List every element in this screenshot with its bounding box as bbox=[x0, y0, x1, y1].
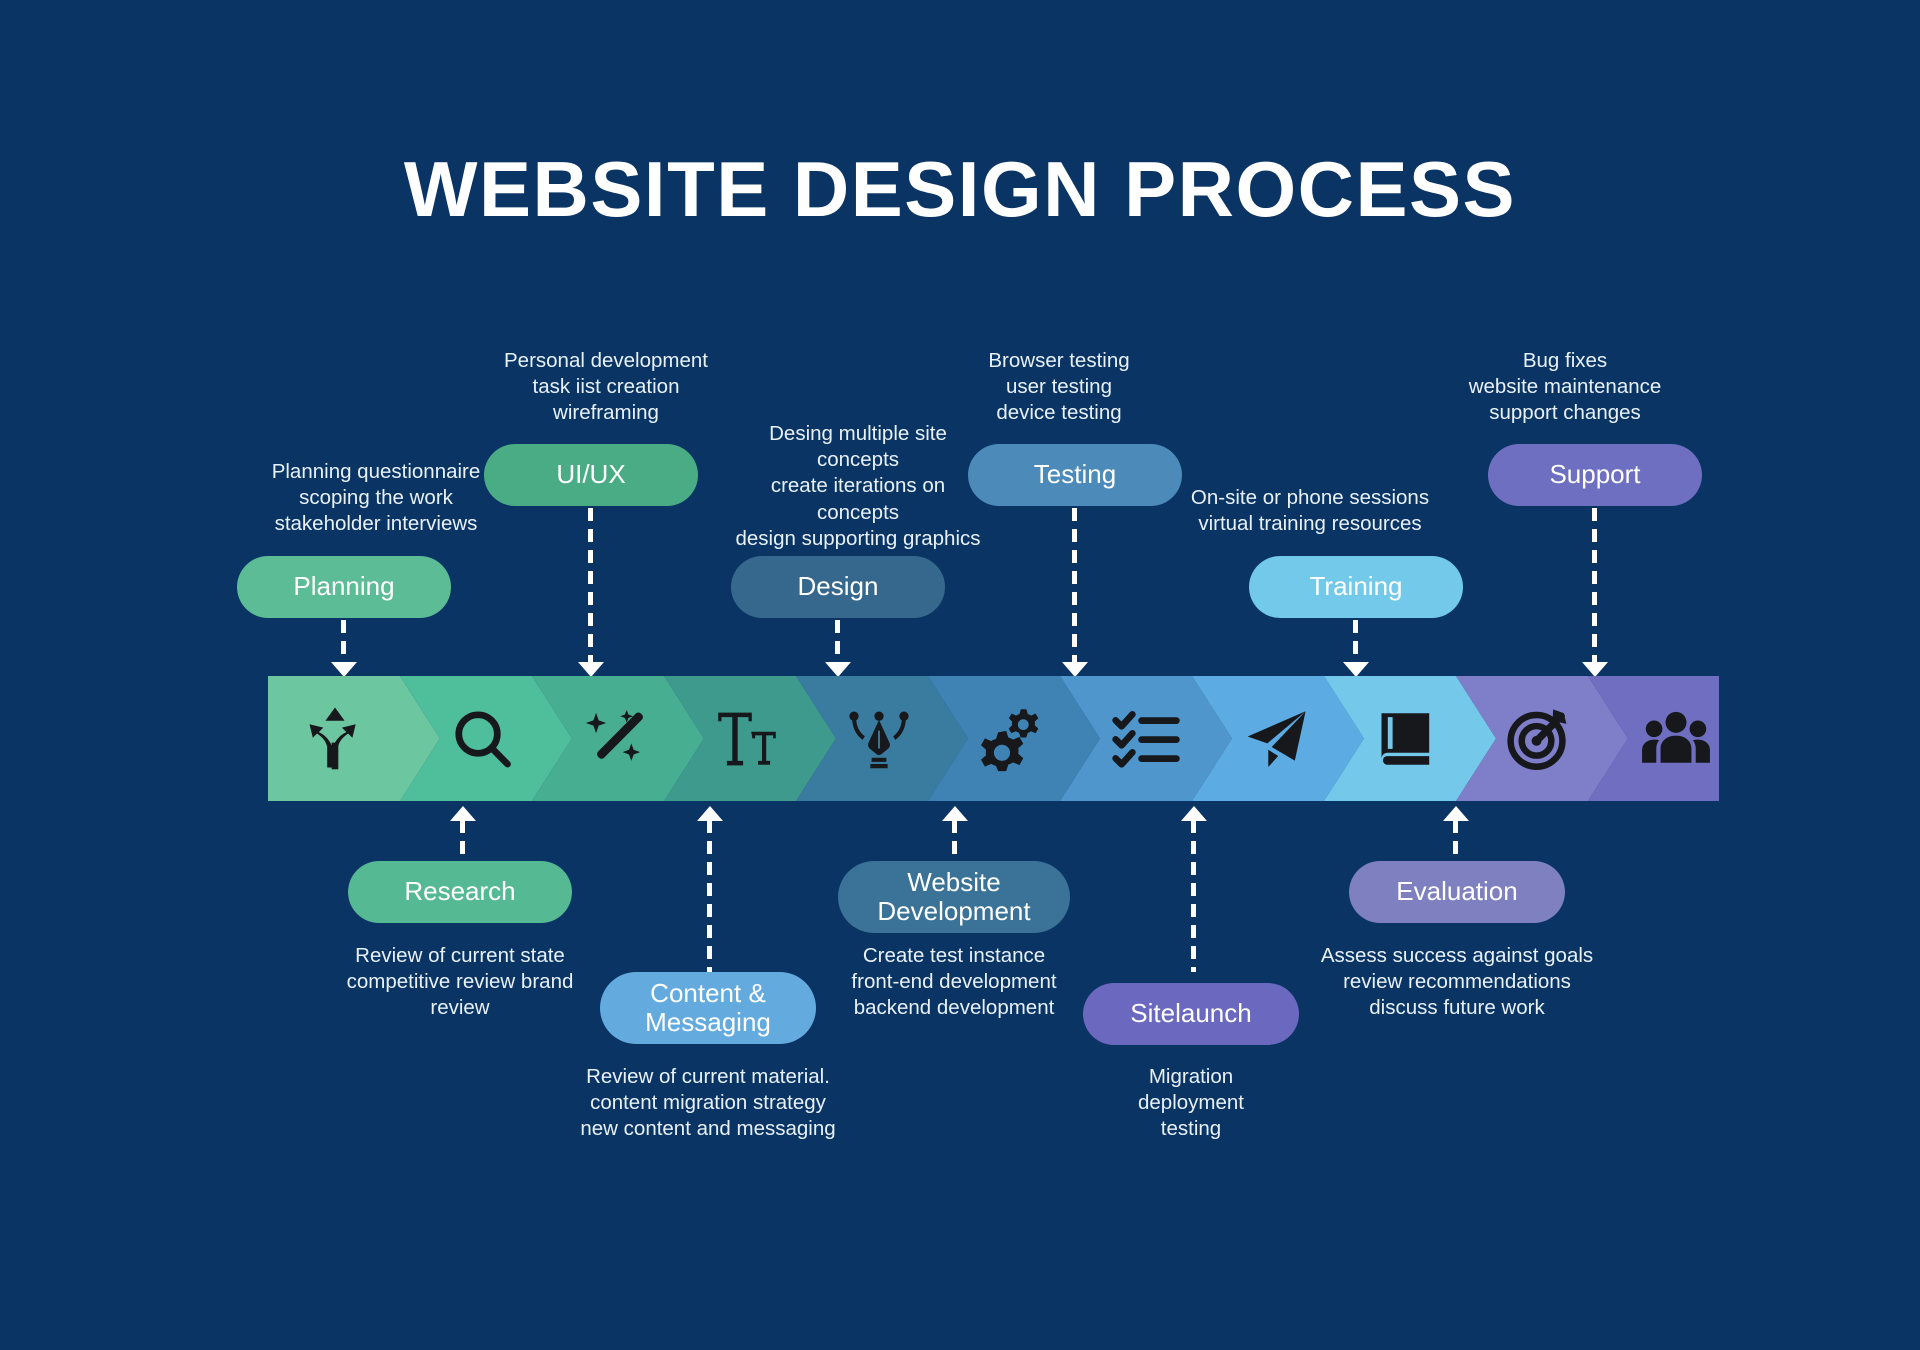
step-label-ui-ux: UI/UX bbox=[556, 460, 625, 489]
target-icon bbox=[1502, 702, 1576, 776]
caption-evaluation: Assess success against goals review reco… bbox=[1307, 943, 1607, 1022]
step-pill-testing[interactable]: Testing bbox=[968, 444, 1182, 506]
step-label-planning: Planning bbox=[293, 572, 394, 601]
caption-support: Bug fixes website maintenance support ch… bbox=[1395, 348, 1735, 427]
connector-testing bbox=[1072, 508, 1077, 664]
step-pill-planning[interactable]: Planning bbox=[237, 556, 451, 618]
step-label-content-messaging: Content & Messaging bbox=[645, 979, 771, 1037]
caption-ui-ux: Personal development task iist creation … bbox=[406, 348, 806, 427]
caption-content-messaging: Review of current material. content migr… bbox=[558, 1064, 858, 1143]
infographic-canvas: WEBSITE DESIGN PROCESS Planning question… bbox=[0, 0, 1920, 1350]
gears-icon bbox=[975, 703, 1047, 775]
paper-plane-icon bbox=[1239, 702, 1313, 776]
connector-ui-ux bbox=[588, 508, 593, 664]
caption-testing: Browser testing user testing device test… bbox=[874, 348, 1244, 427]
process-chevron-band bbox=[268, 676, 1659, 801]
caption-research: Review of current state competitive revi… bbox=[310, 943, 610, 1022]
step-pill-training[interactable]: Training bbox=[1249, 556, 1463, 618]
typography-icon bbox=[711, 703, 783, 775]
arrowhead-ui-ux bbox=[578, 662, 604, 677]
people-group-icon bbox=[1639, 702, 1713, 776]
step-label-sitelaunch: Sitelaunch bbox=[1130, 999, 1251, 1028]
step-label-website-development: Website Development bbox=[877, 868, 1030, 926]
arrowhead-sitelaunch bbox=[1181, 806, 1207, 821]
arrowhead-planning bbox=[331, 662, 357, 677]
arrowhead-content-messaging bbox=[697, 806, 723, 821]
arrowhead-training bbox=[1343, 662, 1369, 677]
step-pill-website-development[interactable]: Website Development bbox=[838, 861, 1070, 933]
step-label-training: Training bbox=[1310, 572, 1403, 601]
arrowhead-evaluation bbox=[1443, 806, 1469, 821]
arrowhead-website-development bbox=[942, 806, 968, 821]
step-pill-evaluation[interactable]: Evaluation bbox=[1349, 861, 1565, 923]
step-label-evaluation: Evaluation bbox=[1396, 877, 1517, 906]
step-pill-design[interactable]: Design bbox=[731, 556, 945, 618]
arrowhead-research bbox=[450, 806, 476, 821]
step-label-research: Research bbox=[404, 877, 515, 906]
connector-content-messaging bbox=[707, 820, 712, 972]
checklist-icon bbox=[1108, 701, 1184, 777]
branching-arrows-icon bbox=[299, 703, 371, 775]
connector-planning bbox=[341, 620, 346, 664]
connector-design bbox=[835, 620, 840, 664]
step-pill-sitelaunch[interactable]: Sitelaunch bbox=[1083, 983, 1299, 1045]
magic-wand-icon bbox=[580, 704, 650, 774]
step-pill-support[interactable]: Support bbox=[1488, 444, 1702, 506]
connector-evaluation bbox=[1453, 820, 1458, 862]
book-icon bbox=[1371, 703, 1443, 775]
connector-sitelaunch bbox=[1191, 820, 1196, 972]
caption-website-development: Create test instance front-end developme… bbox=[808, 943, 1100, 1022]
connector-training bbox=[1353, 620, 1358, 664]
step-pill-content-messaging[interactable]: Content & Messaging bbox=[600, 972, 816, 1044]
step-label-testing: Testing bbox=[1034, 460, 1116, 489]
caption-sitelaunch: Migration deployment testing bbox=[1091, 1064, 1291, 1143]
step-label-design: Design bbox=[798, 572, 879, 601]
connector-website-development bbox=[952, 820, 957, 862]
band-segment-support[interactable] bbox=[1588, 676, 1759, 801]
step-pill-research[interactable]: Research bbox=[348, 861, 572, 923]
connector-support bbox=[1592, 508, 1597, 664]
magnifier-icon bbox=[448, 704, 518, 774]
connector-research bbox=[460, 820, 465, 862]
pen-nib-icon bbox=[842, 702, 916, 776]
step-label-support: Support bbox=[1549, 460, 1640, 489]
arrowhead-support bbox=[1582, 662, 1608, 677]
step-pill-ui-ux[interactable]: UI/UX bbox=[484, 444, 698, 506]
arrowhead-testing bbox=[1062, 662, 1088, 677]
page-title: WEBSITE DESIGN PROCESS bbox=[0, 150, 1920, 228]
arrowhead-design bbox=[825, 662, 851, 677]
